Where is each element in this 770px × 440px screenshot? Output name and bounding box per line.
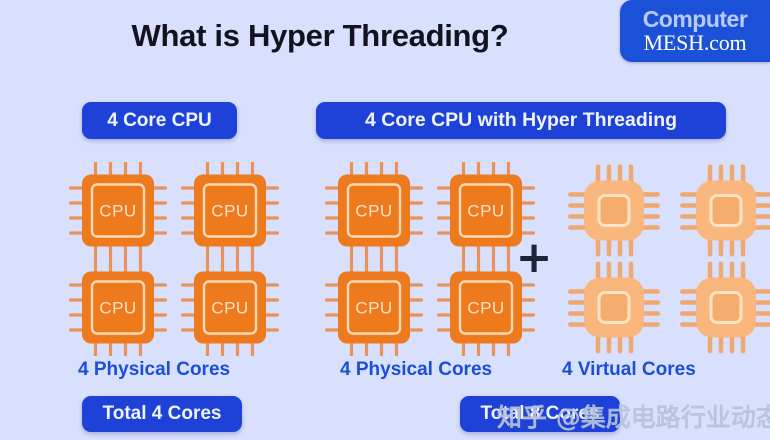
watermark: 知乎 @集成电路行业动态 xyxy=(497,398,770,434)
left-panel-header-pill: 4 Core CPU xyxy=(82,102,237,139)
brand-logo: Computer MESH.com xyxy=(620,0,770,62)
cpu-chip-icon: CPU xyxy=(318,259,430,356)
cpu-chip-icon: CPU xyxy=(62,162,174,259)
left-panel-total-pill: Total 4 Cores xyxy=(82,396,242,432)
cpu-chip-icon: CPU xyxy=(318,162,430,259)
cpu-chip-icon: CPU xyxy=(174,259,286,356)
right-panel-virtual-chip-grid xyxy=(558,162,770,356)
virtual-core-chip-icon xyxy=(558,162,670,259)
right-panel-physical-caption: 4 Physical Cores xyxy=(340,359,492,381)
left-panel-chip-grid: CPU CPU CPU CP xyxy=(62,162,286,356)
plus-operator-icon: + xyxy=(516,240,552,276)
right-panel-physical-chip-grid: CPU CPU CPU CP xyxy=(318,162,542,356)
svg-text:CPU: CPU xyxy=(99,299,136,318)
brand-logo-primary: Computer xyxy=(643,8,748,31)
svg-text:CPU: CPU xyxy=(355,299,392,318)
right-panel-header-pill: 4 Core CPU with Hyper Threading xyxy=(316,102,726,139)
left-panel-caption: 4 Physical Cores xyxy=(78,359,230,381)
brand-logo-secondary: MESH.com xyxy=(644,32,747,54)
svg-text:CPU: CPU xyxy=(355,202,392,221)
virtual-core-chip-icon xyxy=(670,162,770,259)
virtual-core-chip-icon xyxy=(558,259,670,356)
svg-text:CPU: CPU xyxy=(211,299,248,318)
svg-text:CPU: CPU xyxy=(467,299,504,318)
watermark-text: 知乎 @集成电路行业动态 xyxy=(497,398,770,434)
cpu-chip-icon: CPU xyxy=(174,162,286,259)
infographic-canvas: What is Hyper Threading? Computer MESH.c… xyxy=(0,0,770,440)
svg-text:CPU: CPU xyxy=(211,202,248,221)
cpu-chip-icon: CPU xyxy=(62,259,174,356)
virtual-core-chip-icon xyxy=(670,259,770,356)
right-panel-virtual-caption: 4 Virtual Cores xyxy=(562,359,696,381)
svg-text:CPU: CPU xyxy=(99,202,136,221)
page-title: What is Hyper Threading? xyxy=(0,18,640,54)
svg-text:CPU: CPU xyxy=(467,202,504,221)
